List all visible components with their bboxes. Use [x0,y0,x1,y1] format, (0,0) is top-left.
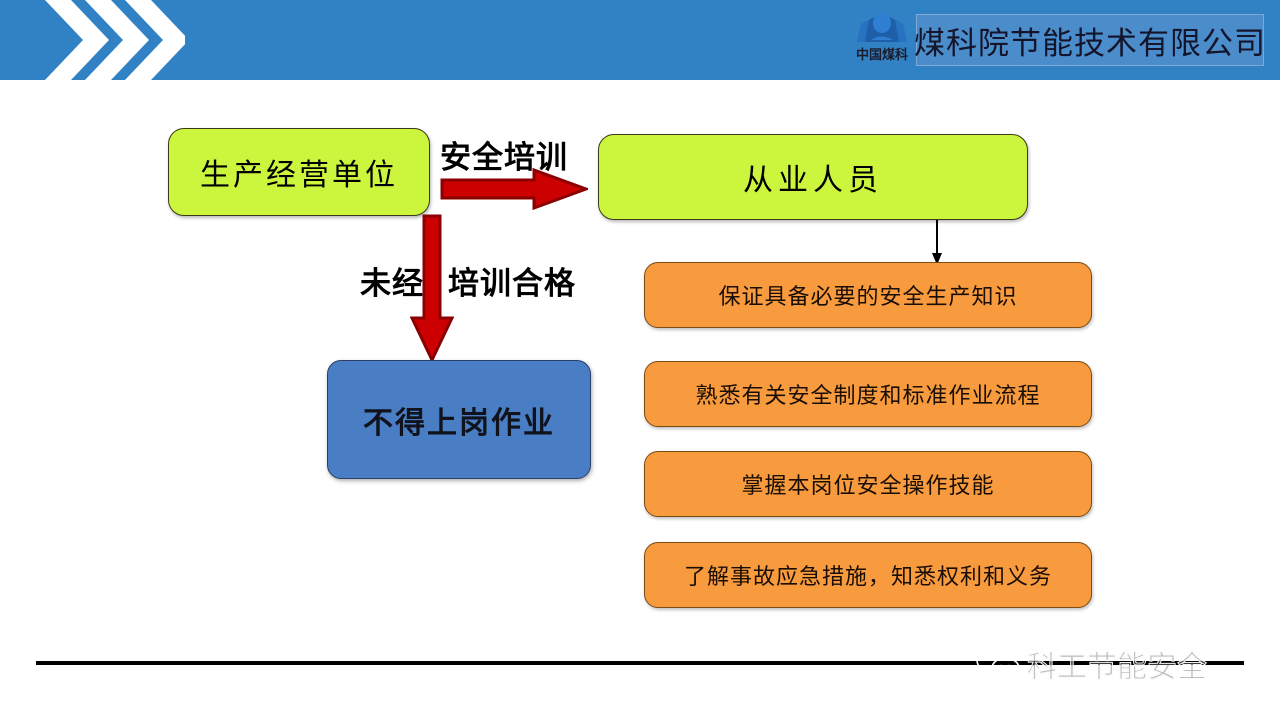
requirement-box[interactable]: 保证具备必要的安全生产知识 [644,262,1092,328]
watermark: 科工节能安全 [975,638,1265,690]
training-passed-label: 培训合格 [448,258,576,303]
triple-chevron-right-icon [45,0,185,80]
watermark-text: 科工节能安全 [1027,642,1207,686]
company-name-box: 煤科院节能技术有限公司 [916,14,1264,66]
wechat-icon [975,644,1021,684]
no-work-box-label: 不得上岗作业 [363,398,555,442]
company-name: 煤科院节能技术有限公司 [917,15,1263,65]
requirement-label: 了解事故应急措施，知悉权利和义务 [684,559,1052,591]
slide-canvas: 中国煤科 煤科院节能技术有限公司 生产经营单位 从业人员 安全培训 未经 培训合… [0,0,1280,720]
requirement-box[interactable]: 掌握本岗位安全操作技能 [644,451,1092,517]
requirement-label: 熟悉有关安全制度和标准作业流程 [695,378,1040,410]
requirement-box[interactable]: 了解事故应急措施，知悉权利和义务 [644,542,1092,608]
header-bar: 中国煤科 煤科院节能技术有限公司 [0,0,1280,80]
coal-science-emblem-icon [851,10,913,48]
not-trained-label: 未经 [360,258,424,303]
requirement-box[interactable]: 熟悉有关安全制度和标准作业流程 [644,361,1092,427]
logo-text: 中国煤科 [843,47,921,63]
producer-box[interactable]: 生产经营单位 [168,128,430,216]
employee-box[interactable]: 从业人员 [598,134,1028,220]
logo: 中国煤科 [843,10,921,72]
arrow-down-thin-icon [930,220,944,266]
no-work-box[interactable]: 不得上岗作业 [327,360,591,479]
requirement-label: 掌握本岗位安全操作技能 [741,468,994,500]
employee-box-label: 从业人员 [743,155,883,199]
arrow-right-icon [440,168,588,210]
requirement-label: 保证具备必要的安全生产知识 [718,279,1017,311]
producer-box-label: 生产经营单位 [200,150,398,194]
